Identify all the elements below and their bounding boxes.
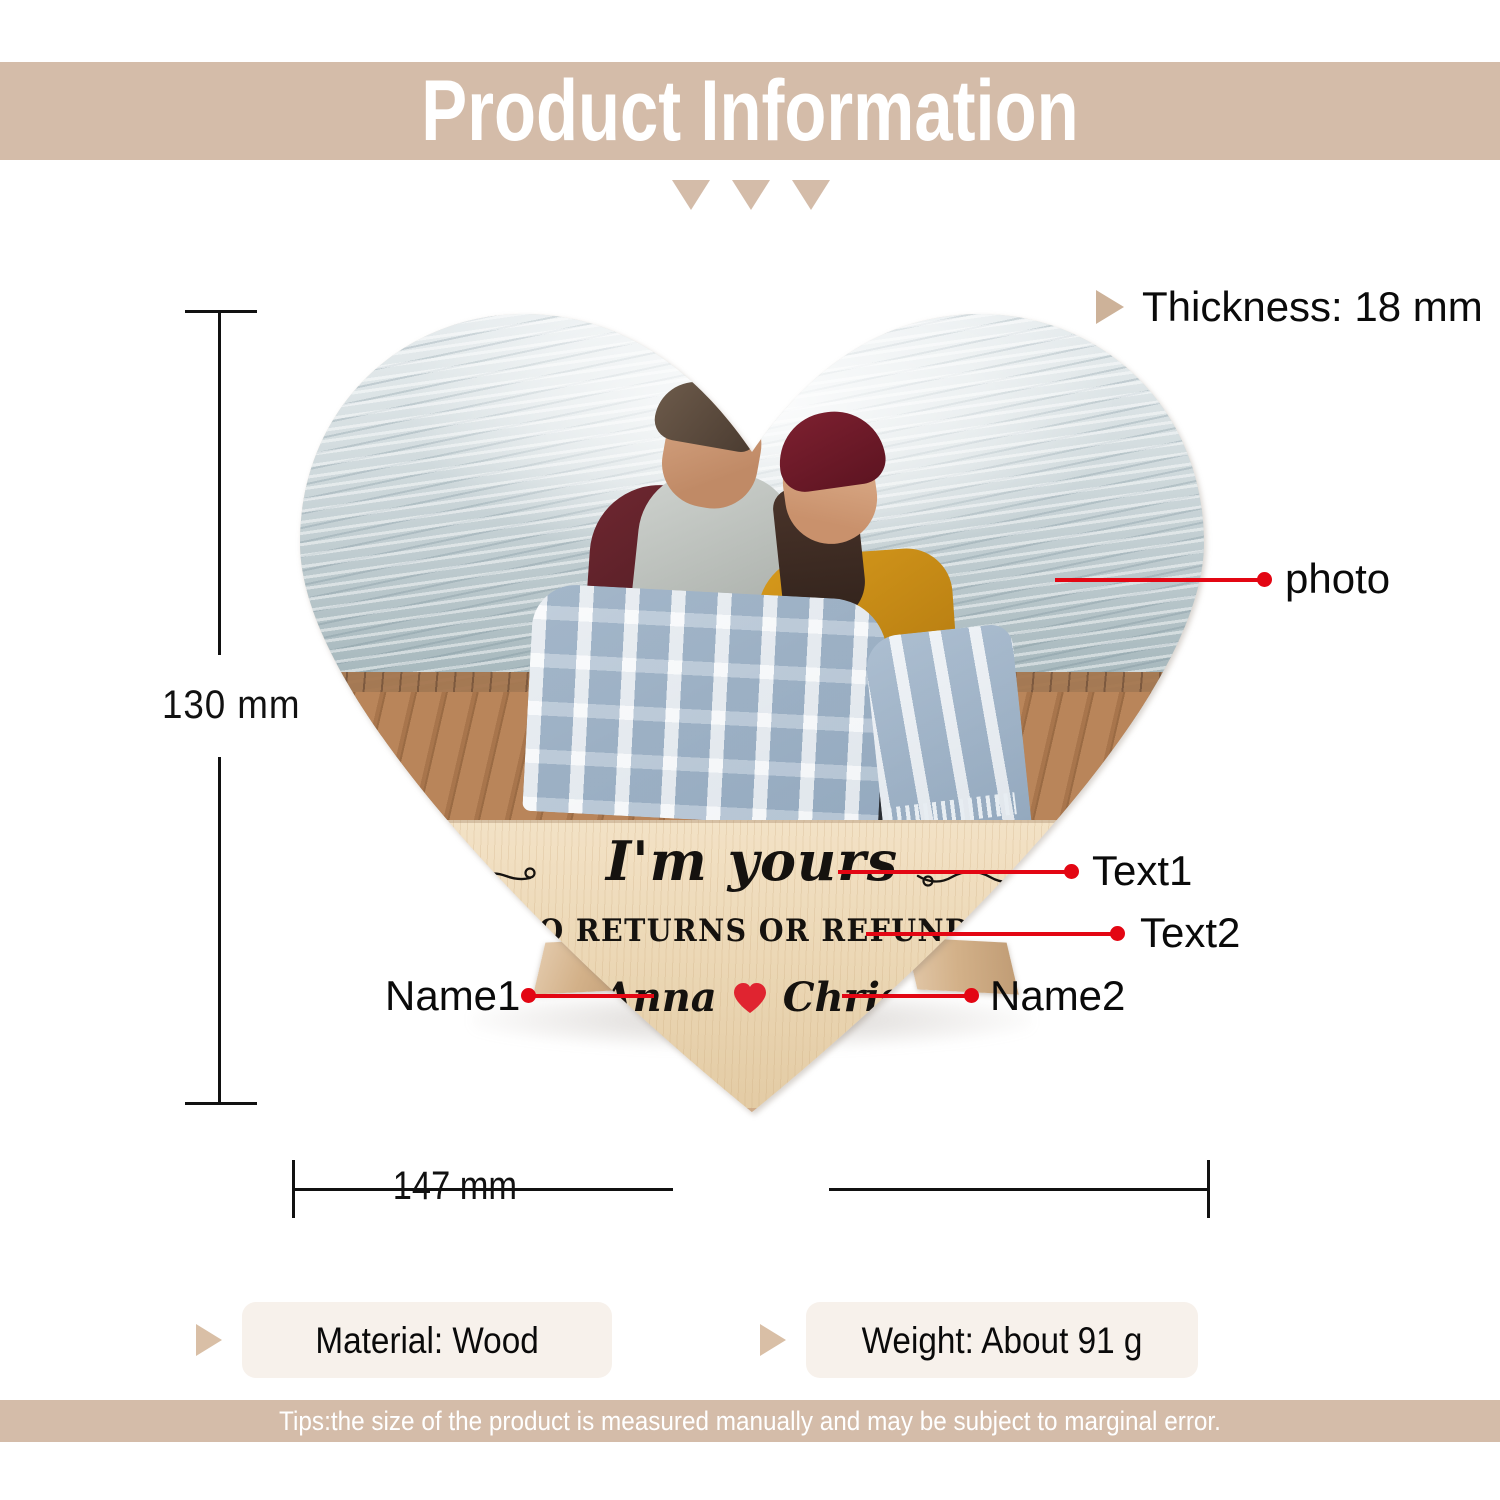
chevron-group	[672, 180, 830, 210]
height-dimension-label: 130 mm	[162, 683, 300, 728]
callout-label-text1: Text1	[1092, 850, 1192, 892]
plaid-blanket	[522, 583, 889, 820]
callout-line-photo	[1055, 578, 1260, 582]
dimension-tick-bottom	[185, 1102, 257, 1105]
callout-dot-text1	[1064, 864, 1079, 879]
chevron-down-icon	[732, 180, 770, 210]
spec-weight-box: Weight: About 91 g	[806, 1302, 1198, 1378]
flourish-right-icon	[912, 864, 1082, 890]
footer-tip: Tips:the size of the product is measured…	[75, 1400, 1425, 1442]
dimension-tick-right	[1207, 1160, 1210, 1218]
engraving-script-line: I'm yours	[292, 834, 1212, 888]
callout-label-name2: Name2	[990, 975, 1125, 1017]
callout-label-text2: Text2	[1140, 912, 1240, 954]
width-dimension-label: 147 mm	[393, 1164, 513, 1209]
thickness-spec: Thickness: 18 mm	[1096, 286, 1483, 328]
infographic-canvas: Product Information 130 mm 147 mm	[0, 0, 1500, 1500]
engraved-name-right: Chris	[783, 978, 903, 1018]
chevron-down-icon	[792, 180, 830, 210]
dimension-line-right	[829, 1188, 1207, 1191]
chevron-down-icon	[672, 180, 710, 210]
dimension-line-upper	[218, 313, 221, 655]
triangle-right-icon	[760, 1324, 786, 1356]
page-title: Product Information	[150, 62, 1350, 160]
spec-material-label: Material: Wood	[315, 1322, 538, 1359]
dimension-line-lower	[218, 757, 221, 1102]
callout-label-name1: Name1	[385, 975, 520, 1017]
spec-material: Material: Wood	[196, 1302, 612, 1378]
callout-line-name2	[842, 994, 970, 998]
callout-line-name1	[529, 994, 654, 998]
photo-area	[292, 300, 1212, 820]
heart-icon	[733, 982, 767, 1014]
triangle-right-icon	[196, 1324, 222, 1356]
callout-line-text2	[866, 932, 1116, 936]
callout-dot-photo	[1257, 572, 1272, 587]
spec-material-box: Material: Wood	[242, 1302, 612, 1378]
spec-weight: Weight: About 91 g	[760, 1302, 1198, 1378]
woman-beanie	[773, 405, 889, 495]
plaid-blanket-right	[863, 623, 1032, 820]
spec-weight-label: Weight: About 91 g	[862, 1322, 1143, 1359]
engraved-name-left: Anna	[602, 978, 717, 1018]
spec-row: Material: Wood Weight: About 91 g	[196, 1302, 1336, 1378]
callout-label-photo: photo	[1285, 558, 1390, 600]
callout-dot-name2	[964, 988, 979, 1003]
triangle-right-icon	[1096, 290, 1124, 324]
callout-line-text1	[838, 870, 1070, 874]
dimension-tick-top	[185, 310, 257, 313]
callout-dot-text2	[1110, 926, 1125, 941]
couple-figures	[292, 300, 1212, 820]
thickness-label: Thickness: 18 mm	[1142, 286, 1483, 328]
